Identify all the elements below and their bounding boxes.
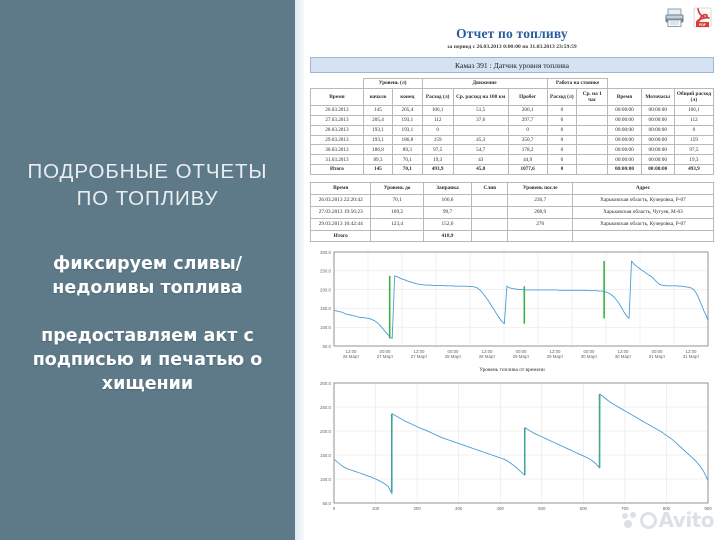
cell: 193,1: [393, 115, 422, 125]
group-level: Уровень (л): [363, 79, 422, 89]
promo-subtext-1: фиксируем сливы/ недоливы топлива: [14, 252, 282, 300]
document-toolbar: PDF: [663, 6, 714, 29]
cell-event-time: 29.03.2013 16:42:44: [311, 218, 371, 230]
cell: 89,3: [393, 145, 422, 155]
cell: 00:00:00: [641, 145, 674, 155]
svg-text:600: 600: [580, 506, 588, 511]
cell: 45,3: [453, 135, 508, 145]
svg-text:300.0: 300.0: [320, 381, 332, 386]
cell: 43: [453, 155, 508, 165]
col-drain: Слив: [472, 183, 508, 195]
svg-text:500: 500: [538, 506, 546, 511]
cell: 70,1: [393, 165, 422, 175]
cell: 0: [508, 125, 547, 135]
cell: 00:00:00: [608, 165, 641, 175]
cell: 00:00:00: [608, 135, 641, 145]
cell: 106,1: [422, 105, 453, 115]
svg-text:27 Март: 27 Март: [377, 354, 394, 359]
vehicle-sensor-bar: Камаз 391 : Датчик уровня топлива: [310, 57, 714, 73]
cell: 0: [547, 115, 576, 125]
col-avg-per-hour: Ср. на 1 час: [577, 89, 608, 106]
table-group-header-row: Уровень (л) Движение Работа на стоянке: [311, 79, 714, 89]
col-refuel: Заправка: [423, 183, 471, 195]
cell: 276: [508, 218, 572, 230]
cell: 99,7: [423, 206, 471, 218]
cell: [472, 194, 508, 206]
promo-subtext-2: предоставляем акт с подписью и печатью о…: [12, 324, 284, 396]
cell: 97,5: [674, 145, 713, 155]
table-row: 31.03.2013 89,3 70,1 19,3 43 44,9 0 00:0…: [311, 155, 714, 165]
cell-date: 30.03.2013: [311, 145, 364, 155]
cell: [508, 230, 572, 242]
cell: [577, 135, 608, 145]
svg-text:150.0: 150.0: [320, 307, 332, 312]
cell: [453, 125, 508, 135]
svg-text:28 Март: 28 Март: [445, 354, 462, 359]
cell: 193,1: [393, 125, 422, 135]
cell: 0: [547, 165, 576, 175]
fuel-level-index-chart: 300.0250.0200.0150.0100.050.001002003004…: [310, 379, 714, 519]
cell-date: 29.03.2013: [311, 135, 364, 145]
cell: 00:00:00: [641, 165, 674, 175]
svg-text:30 Март: 30 Март: [615, 354, 632, 359]
cell: 0: [547, 125, 576, 135]
svg-text:150.0: 150.0: [320, 453, 332, 458]
cell: 297,7: [508, 115, 547, 125]
cell-event-time: 27.03.2013 19:56:23: [311, 206, 371, 218]
cell: 0: [547, 105, 576, 115]
group-movement: Движение: [422, 79, 547, 89]
fuel-summary-table: Уровень (л) Движение Работа на стоянке В…: [310, 78, 714, 175]
cell: 44,9: [508, 155, 547, 165]
table-row: 28.03.2013 193,1 193,1 0 0 0 00:00:00 00…: [311, 125, 714, 135]
cell: 145: [363, 105, 392, 115]
cell: [577, 105, 608, 115]
table-row: 27.03.2013 19:56:23 109,2 99,7 208,9 Хар…: [311, 206, 714, 218]
cell: 186,8: [393, 135, 422, 145]
svg-text:400: 400: [497, 506, 505, 511]
cell: [371, 230, 423, 242]
svg-text:50.0: 50.0: [322, 344, 331, 349]
cell: 00:00:00: [608, 125, 641, 135]
cell: 00:00:00: [641, 105, 674, 115]
col-event-time: Время: [311, 183, 371, 195]
svg-text:29 Март: 29 Март: [547, 354, 564, 359]
cell: 00:00:00: [608, 145, 641, 155]
cell-date: 27.03.2013: [311, 115, 364, 125]
cell: 205,4: [393, 105, 422, 115]
cell: [472, 230, 508, 242]
cell: 159: [422, 135, 453, 145]
cell: [472, 218, 508, 230]
col-time: Время: [311, 89, 364, 106]
cell-address: Харьковская область, Чугуев, М-03: [572, 206, 713, 218]
fuel-level-time-chart: 300.0250.0200.0150.0100.050.012:0026 Мар…: [310, 248, 714, 373]
cell-total-label: Итого: [311, 230, 371, 242]
svg-text:250.0: 250.0: [320, 405, 332, 410]
fuel-summary-body: 26.03.2013 145 205,4 106,1 51,5 206,1 0 …: [311, 105, 714, 174]
cell: 206,1: [508, 105, 547, 115]
cell: 70,1: [371, 194, 423, 206]
svg-text:31 Март: 31 Март: [649, 354, 666, 359]
report-period-subtitle: за период с 26.03.2013 0:00:00 по 31.03.…: [304, 44, 720, 50]
cell: 54,7: [453, 145, 508, 155]
cell: 0: [422, 125, 453, 135]
svg-text:300: 300: [455, 506, 463, 511]
table-total-row: Итого 418,9: [311, 230, 714, 242]
cell: 418,9: [423, 230, 471, 242]
table-row: 26.03.2013 145 205,4 106,1 51,5 206,1 0 …: [311, 105, 714, 115]
group-blank-4: [674, 79, 713, 89]
svg-text:29 Март: 29 Март: [513, 354, 530, 359]
svg-text:28 Март: 28 Март: [479, 354, 496, 359]
cell: 112: [422, 115, 453, 125]
cell: 00:00:00: [641, 115, 674, 125]
cell: 145: [363, 165, 392, 175]
cell: 106,1: [674, 105, 713, 115]
chart-2-canvas: 300.0250.0200.0150.0100.050.001002003004…: [310, 379, 714, 519]
col-park-time: Время: [608, 89, 641, 106]
table-column-header-row: Время начало конец Расход (л) Ср. расход…: [311, 89, 714, 106]
cell: 112: [674, 115, 713, 125]
pdf-icon[interactable]: PDF: [691, 6, 714, 29]
refuel-events-body: 26.03.2013 22:20:42 70,1 166,6 236,7 Хар…: [311, 194, 714, 242]
cell: 123,4: [371, 218, 423, 230]
table-row: 29.03.2013 16:42:44 123,4 152,6 276 Харь…: [311, 218, 714, 230]
group-blank-2: [608, 79, 641, 89]
cell: 109,2: [371, 206, 423, 218]
chart-1-canvas: 300.0250.0200.0150.0100.050.012:0026 Мар…: [310, 248, 714, 366]
cell: 166,6: [423, 194, 471, 206]
cell: 152,6: [423, 218, 471, 230]
cell: 37,6: [453, 115, 508, 125]
table-row: 26.03.2013 22:20:42 70,1 166,6 236,7 Хар…: [311, 194, 714, 206]
cell: 193,1: [363, 135, 392, 145]
svg-text:0: 0: [333, 506, 336, 511]
cell: 00:00:00: [608, 105, 641, 115]
table-row: 30.03.2013 186,8 89,3 97,5 54,7 178,2 0 …: [311, 145, 714, 155]
group-blank-3: [641, 79, 674, 89]
col-total-consumption: Общий расход (л): [674, 89, 713, 106]
svg-text:100: 100: [372, 506, 380, 511]
cell-total-label: Итого: [311, 165, 364, 175]
printer-icon[interactable]: [663, 6, 686, 29]
cell: 236,7: [508, 194, 572, 206]
slide-root: ПОДРОБНЫЕ ОТЧЕТЫ ПО ТОПЛИВУ фиксируем сл…: [0, 0, 720, 540]
col-level-before: Уровень до: [371, 183, 423, 195]
cell: [577, 165, 608, 175]
cell: 0: [547, 135, 576, 145]
cell: 0: [547, 145, 576, 155]
cell: [572, 230, 713, 242]
cell-date: 26.03.2013: [311, 105, 364, 115]
col-address: Адрес: [572, 183, 713, 195]
svg-text:PDF: PDF: [699, 23, 706, 27]
group-parking: Работа на стоянке: [547, 79, 608, 89]
cell: 159: [674, 135, 713, 145]
svg-text:26 Март: 26 Март: [343, 354, 360, 359]
cell-date: 28.03.2013: [311, 125, 364, 135]
svg-text:300.0: 300.0: [320, 250, 332, 255]
table-row: 29.03.2013 193,1 186,8 159 45,3 350,7 0 …: [311, 135, 714, 145]
svg-text:200.0: 200.0: [320, 288, 332, 293]
cell: 19,3: [422, 155, 453, 165]
cell: 89,3: [363, 155, 392, 165]
cell: 193,1: [363, 125, 392, 135]
cell: [577, 115, 608, 125]
svg-text:200.0: 200.0: [320, 429, 332, 434]
col-engine-hours: Моточасы: [641, 89, 674, 106]
promo-panel: ПОДРОБНЫЕ ОТЧЕТЫ ПО ТОПЛИВУ фиксируем сл…: [0, 0, 295, 540]
cell: [577, 145, 608, 155]
svg-text:50.0: 50.0: [322, 501, 331, 506]
panel-edge-divider: [295, 0, 304, 540]
cell-address: Харьковская область, Кучеровка, P-07: [572, 218, 713, 230]
svg-text:700: 700: [621, 506, 629, 511]
cell: 205,4: [363, 115, 392, 125]
cell: [577, 125, 608, 135]
cell: 1077,6: [508, 165, 547, 175]
cell: 00:00:00: [641, 125, 674, 135]
cell: 186,8: [363, 145, 392, 155]
cell: 00:00:00: [608, 115, 641, 125]
svg-text:200: 200: [413, 506, 421, 511]
col-mileage: Пробег: [508, 89, 547, 106]
cell: 493,9: [674, 165, 713, 175]
group-blank-1: [311, 79, 364, 89]
cell-event-time: 26.03.2013 22:20:42: [311, 194, 371, 206]
col-level-start: начало: [363, 89, 392, 106]
svg-text:800: 800: [663, 506, 671, 511]
svg-text:31 Март: 31 Март: [683, 354, 700, 359]
report-title: Отчет по топливу: [304, 26, 720, 42]
cell: 51,5: [453, 105, 508, 115]
svg-text:30 Март: 30 Март: [581, 354, 598, 359]
cell-address: Харьковская область, Кучеровка, P-07: [572, 194, 713, 206]
svg-text:250.0: 250.0: [320, 269, 332, 274]
refuel-events-table: Время Уровень до Заправка Слив Уровень п…: [310, 182, 714, 242]
cell: 00:00:00: [608, 155, 641, 165]
cell: 350,7: [508, 135, 547, 145]
cell: 208,9: [508, 206, 572, 218]
svg-text:900: 900: [704, 506, 712, 511]
cell: 178,2: [508, 145, 547, 155]
chart-1-caption: Уровень топлива от времени: [310, 367, 714, 373]
cell-date: 31.03.2013: [311, 155, 364, 165]
report-document: PDF Отчет по топливу за период с 26.03.2…: [304, 0, 720, 540]
col-move-consumption: Расход (л): [422, 89, 453, 106]
cell: [577, 155, 608, 165]
cell: 19,3: [674, 155, 713, 165]
events-header-row: Время Уровень до Заправка Слив Уровень п…: [311, 183, 714, 195]
col-avg-per-100km: Ср. расход на 100 км: [453, 89, 508, 106]
cell: 70,1: [393, 155, 422, 165]
cell: 00:00:00: [641, 155, 674, 165]
cell: 0: [547, 155, 576, 165]
cell: 0: [674, 125, 713, 135]
cell: 45,8: [453, 165, 508, 175]
cell: 00:00:00: [641, 135, 674, 145]
cell: 97,5: [422, 145, 453, 155]
table-row: 27.03.2013 205,4 193,1 112 37,6 297,7 0 …: [311, 115, 714, 125]
svg-text:100.0: 100.0: [320, 325, 332, 330]
promo-heading: ПОДРОБНЫЕ ОТЧЕТЫ ПО ТОПЛИВУ: [9, 158, 287, 212]
col-level-after: Уровень после: [508, 183, 572, 195]
svg-text:27 Март: 27 Март: [411, 354, 428, 359]
svg-text:100.0: 100.0: [320, 477, 332, 482]
col-park-consumption: Расход (л): [547, 89, 576, 106]
cell: 493,9: [422, 165, 453, 175]
cell: [472, 206, 508, 218]
table-total-row: Итого 145 70,1 493,9 45,8 1077,6 0 00:00…: [311, 165, 714, 175]
col-level-end: конец: [393, 89, 422, 106]
